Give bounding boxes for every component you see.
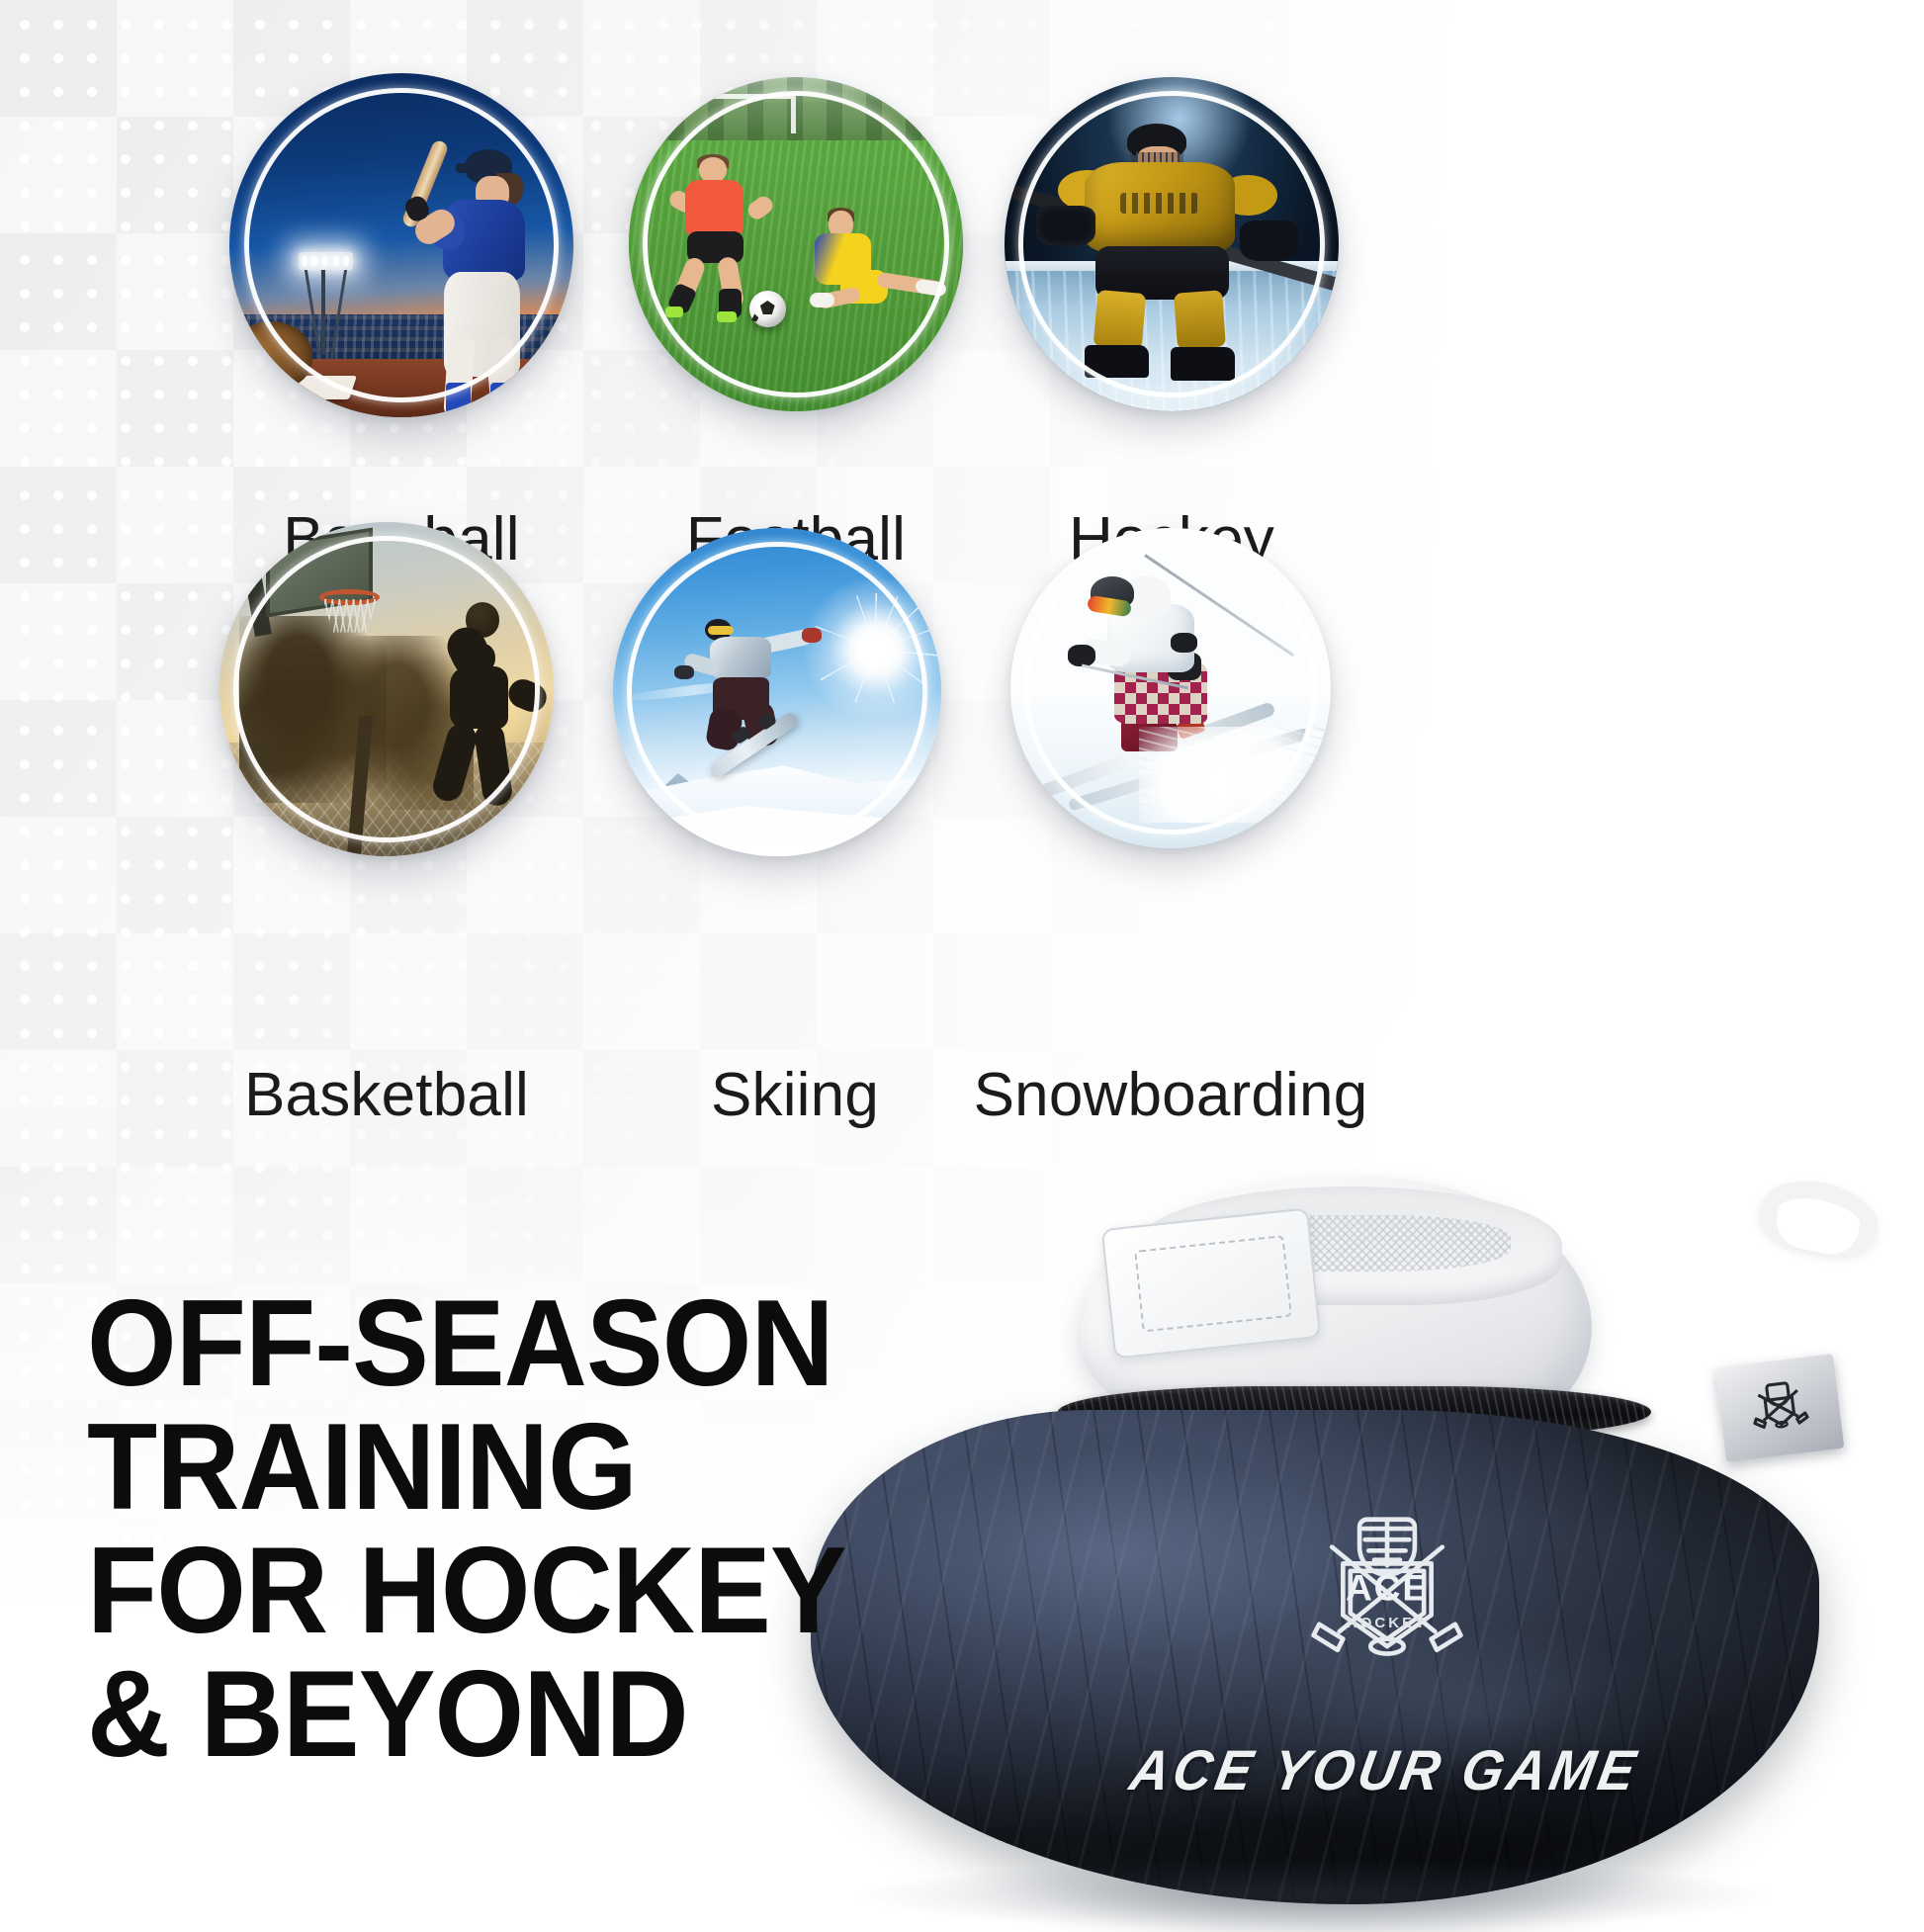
- baseball-batter: [401, 149, 560, 417]
- headline-line-2: TRAINING: [87, 1409, 846, 1527]
- bag-brand-tag: [1715, 1354, 1845, 1462]
- catcher-mitt: [229, 321, 312, 391]
- floodlight-pole: [321, 270, 325, 356]
- hockey-player: [1031, 124, 1298, 378]
- sport-photo-snowboarding[interactable]: [1010, 528, 1331, 848]
- product-drop-shadow: [850, 1859, 1780, 1932]
- sport-photo-hockey[interactable]: [1005, 77, 1339, 411]
- product-image-skate-soaker[interactable]: ACE HOCKEY ACE YOUR GAME: [811, 1177, 1918, 1924]
- soccer-goal-frame: [643, 94, 796, 134]
- ace-your-game-tagline: ACE YOUR GAME: [1125, 1738, 1644, 1803]
- sport-label-snowboarding: Snowboarding: [939, 1060, 1402, 1130]
- batter-sock-left: [446, 383, 472, 417]
- ace-logo-subtext: HOCKEY: [1295, 1615, 1479, 1631]
- ace-hockey-crest-logo: ACE HOCKEY: [1295, 1503, 1479, 1687]
- sun-starburst-flare: [810, 593, 941, 705]
- sport-photo-baseball[interactable]: [229, 73, 573, 417]
- floodlight-bank: [299, 252, 354, 270]
- svg-text:ACE: ACE: [1346, 1567, 1429, 1609]
- headline-line-1: OFF-SEASON: [87, 1285, 846, 1403]
- sport-label-basketball: Basketball: [155, 1060, 618, 1130]
- skate-pull-loop: [1754, 1171, 1884, 1263]
- sport-photo-football[interactable]: [629, 77, 963, 411]
- snowboarder-in-air: [698, 613, 817, 757]
- batter-sock-right: [490, 383, 516, 417]
- football-player-yellow-stretching: [810, 211, 950, 324]
- headline-block: OFF-SEASON TRAINING FOR HOCKEY & BEYOND: [87, 1285, 846, 1780]
- floodlight-leg-right: [329, 270, 346, 359]
- sports-grid: Baseball Footbal: [0, 0, 1924, 1167]
- sport-photo-skiing[interactable]: [613, 528, 941, 856]
- basketball-player-dunking: [427, 602, 541, 810]
- snow-spray: [1139, 727, 1331, 823]
- football-player-orange: [669, 157, 769, 317]
- sport-photo-basketball[interactable]: [219, 522, 554, 856]
- skate-velcro-strap: [1101, 1207, 1322, 1359]
- bag-highlight-upper: [871, 1449, 1356, 1657]
- headline-line-3: FOR HOCKEY: [87, 1533, 846, 1650]
- headline-line-4: & BEYOND: [87, 1656, 846, 1774]
